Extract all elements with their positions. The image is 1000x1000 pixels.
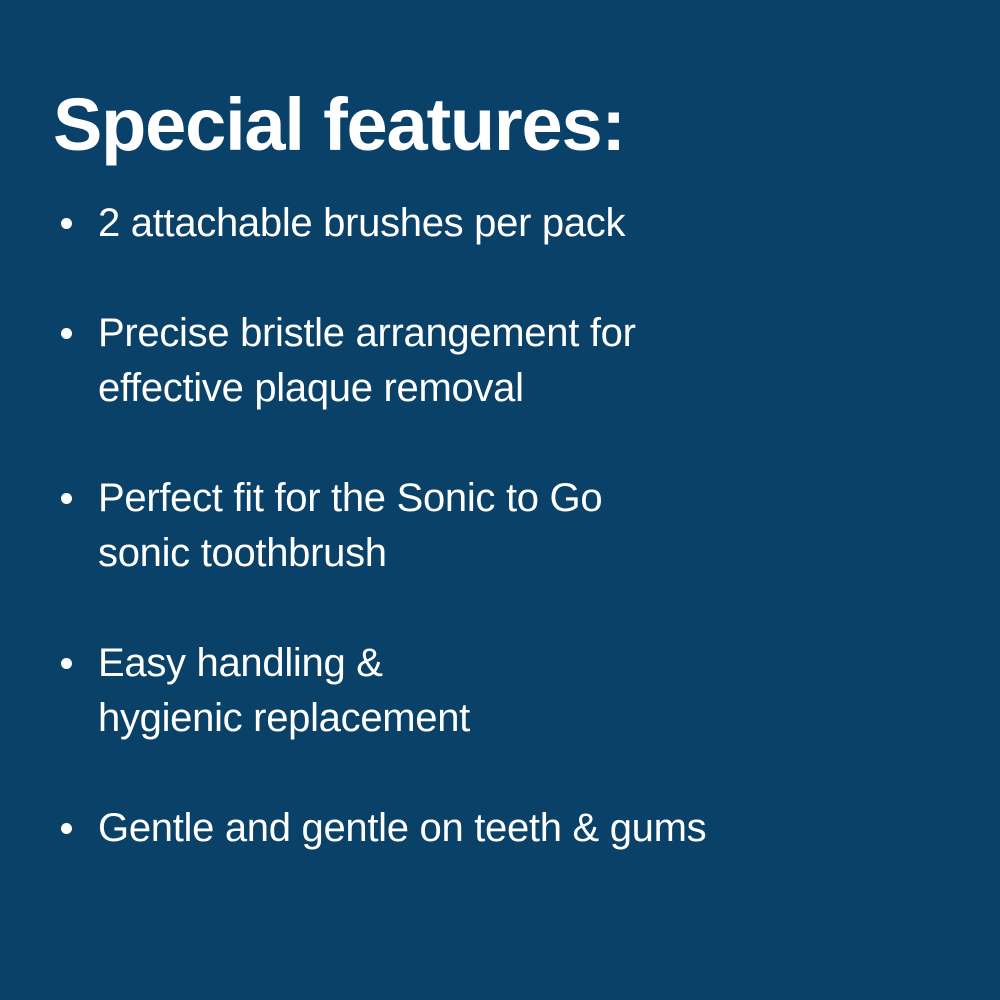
bullet-dot-icon (61, 493, 72, 504)
bullet-dot-icon (61, 328, 72, 339)
bullet-dot-icon (61, 823, 72, 834)
feature-line: Gentle and gentle on teeth & gums (98, 801, 953, 856)
bullet-dot-icon (61, 218, 72, 229)
list-item: Precise bristle arrangement for effectiv… (53, 306, 953, 416)
list-item: 2 attachable brushes per pack (53, 196, 953, 251)
bullet-dot-icon (61, 658, 72, 669)
list-item: Easy handling & hygienic replacement (53, 636, 953, 746)
list-item: Perfect fit for the Sonic to Go sonic to… (53, 471, 953, 581)
feature-line: 2 attachable brushes per pack (98, 196, 953, 251)
feature-line: Precise bristle arrangement for (98, 306, 953, 361)
feature-line: effective plaque removal (98, 361, 953, 416)
product-features-slide: Special features: 2 attachable brushes p… (0, 0, 1000, 1000)
list-item: Gentle and gentle on teeth & gums (53, 801, 953, 856)
feature-line: sonic toothbrush (98, 526, 953, 581)
features-list: 2 attachable brushes per pack Precise br… (53, 196, 953, 856)
feature-line: Easy handling & (98, 636, 953, 691)
page-title: Special features: (53, 88, 625, 162)
feature-line: Perfect fit for the Sonic to Go (98, 471, 953, 526)
feature-line: hygienic replacement (98, 691, 953, 746)
